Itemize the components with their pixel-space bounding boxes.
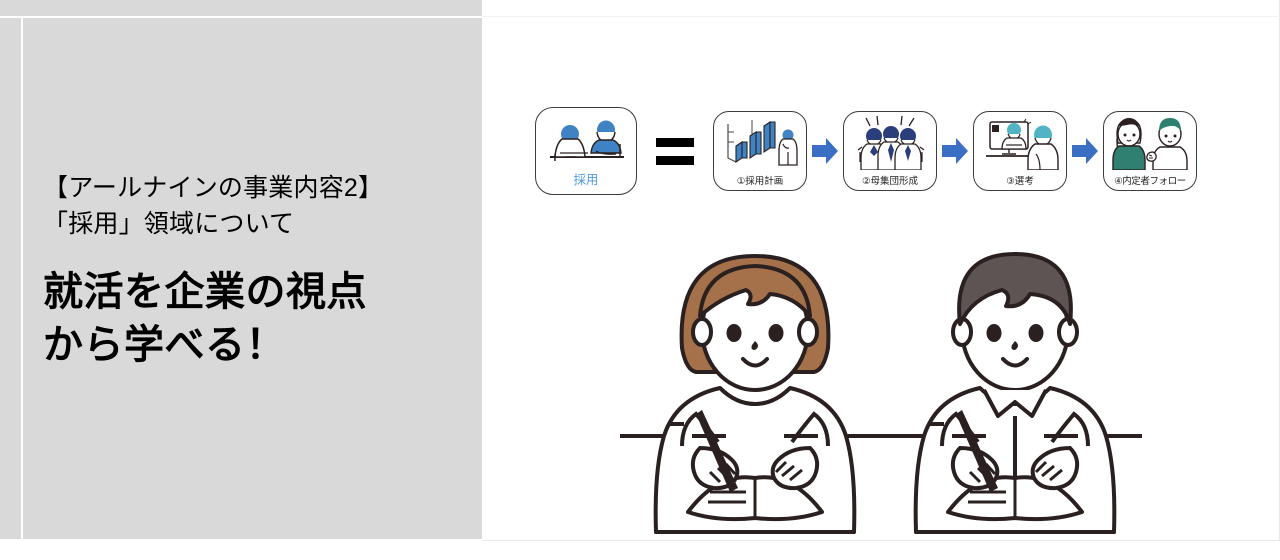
- slide-canvas: 【アールナインの事業内容2】 「採用」領域について 就活を企業の視点 から学べる…: [0, 0, 1280, 560]
- male-student-writing: [880, 240, 1150, 540]
- equals-symbol: [641, 138, 709, 165]
- flow-lead-caption: 採用: [536, 169, 636, 188]
- card-top-hairline: [482, 16, 1280, 17]
- online-interview-icon: [974, 114, 1066, 170]
- left-text-block: 【アールナインの事業内容2】 「採用」領域について 就活を企業の視点 から学べる…: [43, 170, 473, 372]
- bar-chart-planning-icon: [714, 114, 806, 170]
- interview-scene-icon: [536, 110, 636, 170]
- flow-step-2-caption: ②母集団形成: [844, 173, 936, 187]
- left-text-panel: 【アールナインの事業内容2】 「採用」領域について 就活を企業の視点 から学べる…: [23, 18, 482, 539]
- recruitment-flow-diagram: 採用: [535, 103, 1197, 199]
- flow-step-3: ③選考: [973, 111, 1067, 191]
- flow-step-4: ④内定者フォロー: [1103, 111, 1197, 191]
- headline-line-2: から学べる！: [43, 319, 473, 372]
- arrow-right-icon-3: [1072, 136, 1098, 166]
- arrow-right-icon-2: [942, 136, 968, 166]
- flow-step-1-caption: ①採用計画: [714, 173, 806, 187]
- headline: 就活を企業の視点 から学べる！: [43, 266, 473, 372]
- arrow-right-icon-1: [812, 136, 838, 166]
- flow-step-2: ②母集団形成: [843, 111, 937, 191]
- female-student-writing: [620, 240, 890, 540]
- two-people-talking-icon: [1104, 114, 1196, 170]
- eyebrow-line-2: 「採用」領域について: [43, 206, 473, 242]
- students-illustration: [600, 240, 1160, 540]
- flow-step-4-caption: ④内定者フォロー: [1104, 173, 1196, 187]
- headline-line-1: 就活を企業の視点: [43, 266, 473, 319]
- eyebrow-line-1: 【アールナインの事業内容2】: [43, 170, 473, 206]
- gray-band-top: [0, 0, 482, 16]
- gray-gutter: [0, 18, 21, 539]
- flow-step-3-caption: ③選考: [974, 173, 1066, 187]
- flow-lead-tile: 採用: [535, 107, 637, 195]
- flow-step-1: ①採用計画: [713, 111, 807, 191]
- three-students-group-icon: [844, 114, 936, 170]
